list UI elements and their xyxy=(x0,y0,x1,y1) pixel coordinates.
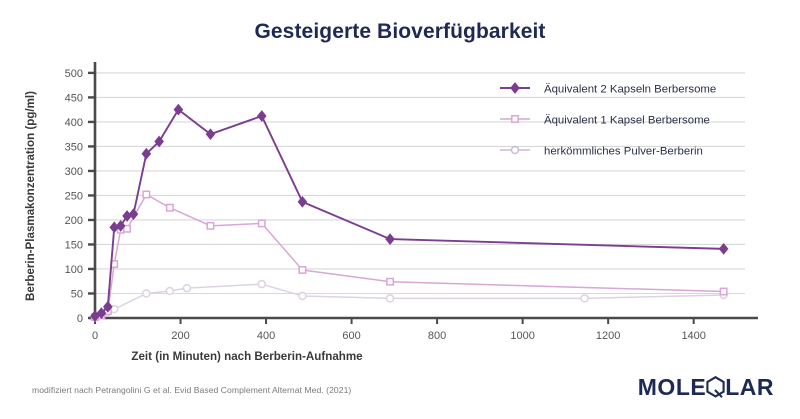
data-series-layer xyxy=(91,105,727,321)
y-tick-label: 350 xyxy=(65,141,83,153)
y-axis-title: Berberin-Plasmakonzentration (pg/ml) xyxy=(24,91,37,301)
y-tick-label: 500 xyxy=(65,68,83,80)
moleqlar-logo: MOLE LAR xyxy=(638,374,774,400)
logo-text-part2: LAR xyxy=(725,376,774,399)
data-point-marker xyxy=(143,290,150,297)
data-point-marker xyxy=(720,288,726,294)
y-tick-label: 400 xyxy=(65,117,83,129)
data-point-marker xyxy=(259,220,265,226)
source-citation: modifiziert nach Petrangolini G et al. E… xyxy=(32,385,351,395)
legend-item[interactable]: Äquivalent 2 Kapseln Berbersome xyxy=(500,83,716,95)
data-point-marker xyxy=(183,285,190,292)
y-tick-label: 200 xyxy=(65,215,83,227)
x-tick-label: 600 xyxy=(342,330,360,342)
legend-item-label: herkömmliches Pulver-Berberin xyxy=(544,146,703,158)
x-tick-label: 800 xyxy=(428,330,446,342)
x-tick-label: 1400 xyxy=(681,330,705,342)
data-point-marker xyxy=(512,147,519,154)
data-point-marker xyxy=(143,191,149,197)
y-axis-tick-labels: 050100150200250300350400450500 xyxy=(65,68,83,325)
y-tick-label: 100 xyxy=(65,264,83,276)
legend-item-label: Äquivalent 2 Kapseln Berbersome xyxy=(544,84,716,96)
data-point-marker xyxy=(207,130,215,139)
data-series xyxy=(92,191,727,320)
legend-item[interactable]: Äquivalent 1 Kapsel Berbersome xyxy=(500,115,710,127)
data-point-marker xyxy=(299,267,305,273)
logo-hexagon-q-icon xyxy=(706,376,725,399)
x-axis-tick-labels: 0200400600800100012001400 xyxy=(92,330,706,342)
data-point-marker xyxy=(581,295,588,302)
legend-item[interactable]: herkömmliches Pulver-Berberin xyxy=(500,146,703,158)
x-tick-label: 400 xyxy=(257,330,275,342)
x-tick-label: 0 xyxy=(92,330,98,342)
data-point-marker xyxy=(167,205,173,211)
gridlines xyxy=(95,73,745,294)
data-point-marker xyxy=(720,244,728,253)
x-tick-label: 1000 xyxy=(510,330,534,342)
y-tick-label: 150 xyxy=(65,239,83,251)
data-point-marker xyxy=(258,281,265,288)
data-point-marker xyxy=(166,288,173,295)
data-point-marker xyxy=(387,279,393,285)
y-tick-label: 300 xyxy=(65,166,83,178)
x-tick-label: 1200 xyxy=(596,330,620,342)
chart-plot-area: 050100150200250300350400450500 020040060… xyxy=(0,0,800,419)
data-point-marker xyxy=(299,292,306,299)
logo-text-part1: MOLE xyxy=(638,376,706,399)
data-point-marker xyxy=(299,197,307,206)
data-point-marker xyxy=(387,295,394,302)
y-tick-label: 50 xyxy=(71,288,83,300)
y-tick-label: 0 xyxy=(77,313,83,325)
data-point-marker xyxy=(258,111,266,120)
y-tick-label: 250 xyxy=(65,190,83,202)
y-tick-label: 450 xyxy=(65,92,83,104)
data-point-marker xyxy=(512,116,518,122)
data-point-marker xyxy=(130,209,138,218)
chart-figure: Gesteigerte Bioverfügbarkeit 05010015020… xyxy=(0,0,800,419)
x-tick-label: 200 xyxy=(171,330,189,342)
legend-item-label: Äquivalent 1 Kapsel Berbersome xyxy=(544,115,710,127)
data-point-marker xyxy=(386,234,394,243)
data-series xyxy=(92,281,728,321)
data-point-marker xyxy=(511,83,519,92)
x-axis-title: Zeit (in Minuten) nach Berberin-Aufnahme xyxy=(131,350,363,363)
data-point-marker xyxy=(207,223,213,229)
